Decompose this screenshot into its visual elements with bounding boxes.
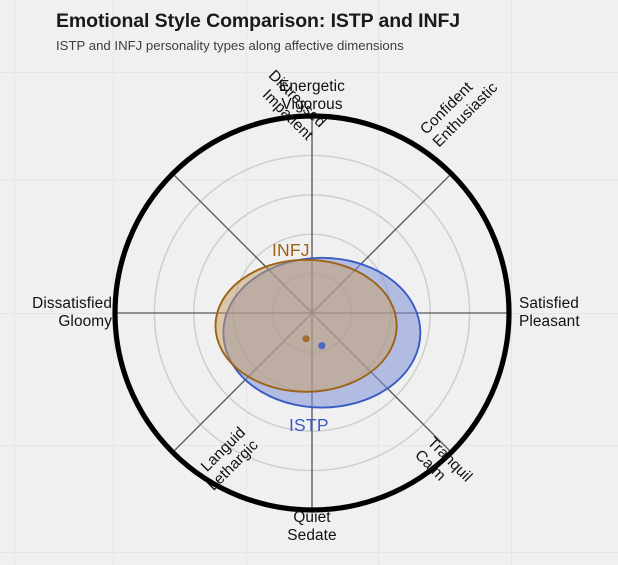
axis-label-satisfied: Satisfied Pleasant xyxy=(519,295,615,330)
series-label-infj: INFJ xyxy=(272,240,310,261)
axis-label-quiet: Quiet Sedate xyxy=(252,509,372,544)
chart-page: Emotional Style Comparison: ISTP and INF… xyxy=(0,0,618,565)
axis-label-dissatisfied-line1: Dissatisfied xyxy=(32,295,112,312)
axis-label-quiet-line1: Quiet xyxy=(293,509,330,526)
axis-label-satisfied-line1: Satisfied xyxy=(519,295,579,312)
axis-label-dissatisfied-line2: Gloomy xyxy=(8,313,112,331)
axis-label-satisfied-line2: Pleasant xyxy=(519,313,615,331)
axis-label-dissatisfied: Dissatisfied Gloomy xyxy=(8,295,112,330)
infj-ellipse xyxy=(215,260,396,392)
axis-label-quiet-line2: Sedate xyxy=(252,527,372,545)
infj-center-point xyxy=(302,335,309,342)
istp-center-point xyxy=(318,342,325,349)
series-label-istp: ISTP xyxy=(289,415,329,436)
